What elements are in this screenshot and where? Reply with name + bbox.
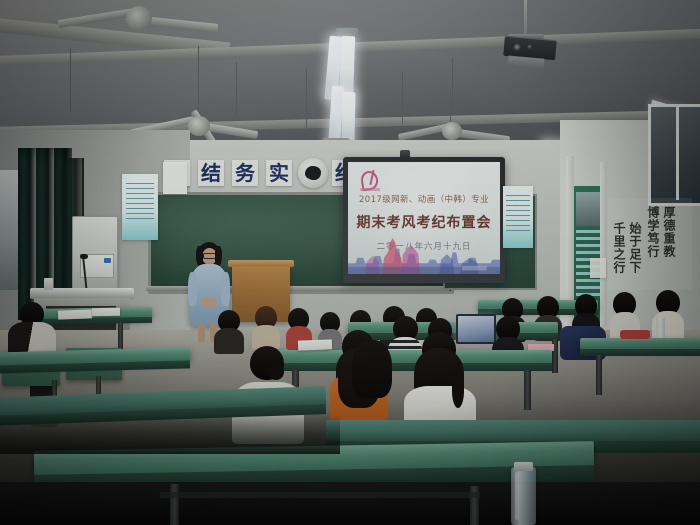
student-far-2 <box>252 306 280 346</box>
fan-blade <box>58 8 136 28</box>
water-bottle-right <box>656 318 665 338</box>
papers-on-desk <box>58 309 92 319</box>
fan-rod <box>450 90 451 122</box>
fan-hub <box>442 122 462 140</box>
desk-crossbar <box>160 492 480 498</box>
water-bottle-cap <box>514 462 533 471</box>
student-row2-white <box>404 332 474 424</box>
bench-row-1-right <box>326 420 700 442</box>
wall-banner: 团 结 务 实 细 <box>160 158 360 192</box>
desk-foreground-shadow <box>0 482 700 525</box>
white-notice-poster <box>163 162 187 194</box>
banner-char-2: 务 <box>232 160 258 186</box>
fan-hub <box>188 116 210 136</box>
desk-leg-foreground <box>170 484 179 525</box>
window-mullion <box>676 104 679 200</box>
student-hair-long <box>352 340 392 398</box>
foreground-shadow-band <box>0 414 340 454</box>
projection-screen: 2017级网新、动画（中韩）专业 期末考风考纪布置会 二零一八年六月十九日 <box>343 157 505 283</box>
microphone-head <box>80 254 88 259</box>
door-frame-right <box>600 162 607 326</box>
door-window <box>576 192 600 226</box>
presenter-hands <box>201 298 217 307</box>
papers-on-desk <box>92 308 120 316</box>
desk-leg <box>524 370 531 410</box>
banner-char-1: 结 <box>198 160 224 186</box>
university-logo-icon <box>359 169 381 193</box>
fan-blade <box>142 16 219 33</box>
light-hanger-wire <box>236 62 237 116</box>
teal-notice-poster-right <box>503 186 533 248</box>
student-hair-strand <box>452 374 464 408</box>
slide-subtitle: 2017级网新、动画（中韩）专业 <box>348 193 500 205</box>
light-hanger-wire <box>306 68 307 128</box>
ceiling-fan-far-left <box>58 0 218 40</box>
hair-bun <box>268 364 284 380</box>
student-far-1 <box>214 310 244 350</box>
skyline-graphic <box>348 236 500 274</box>
papers-on-desk <box>298 339 332 350</box>
projector-indicator <box>527 44 532 49</box>
fan-rod <box>198 46 199 112</box>
cabinet-indicator <box>104 258 111 263</box>
student-row2-left-edge <box>352 340 392 400</box>
red-item-on-desk <box>620 330 650 339</box>
desk-leg <box>596 355 602 395</box>
presenter-arm-right <box>221 272 230 306</box>
light-hanger-wire <box>70 48 71 112</box>
projector-lens <box>513 43 521 51</box>
classroom-photo: 团 结 务 实 细 2017级网新、动画（中韩）专业 期末考风考纪布置会 二零一… <box>0 0 700 525</box>
teal-notice-poster-left <box>122 174 158 240</box>
slide-title: 期末考风考纪布置会 <box>348 212 500 232</box>
small-white-label-right <box>590 258 606 278</box>
presenter-hair-side <box>215 246 222 266</box>
calligraphy-paper-backing <box>608 198 692 290</box>
clock-emblem-icon <box>298 158 328 188</box>
presenter-arm-left <box>188 272 197 306</box>
right-window <box>648 104 700 206</box>
presenter-hair-side <box>196 246 203 266</box>
fan-hub <box>126 6 152 30</box>
banner-char-3: 实 <box>266 160 292 186</box>
water-bottle-highlight <box>515 472 519 520</box>
cup-on-console <box>44 278 53 290</box>
light-hanger-wire <box>452 58 453 112</box>
light-hanger-wire <box>402 72 403 124</box>
projection-screen-display: 2017级网新、动画（中韩）专业 期末考风考纪布置会 二零一八年六月十九日 <box>348 162 500 274</box>
projector-pole <box>524 0 527 36</box>
equipment-cabinet <box>72 216 118 290</box>
presenter-leg <box>198 324 205 342</box>
